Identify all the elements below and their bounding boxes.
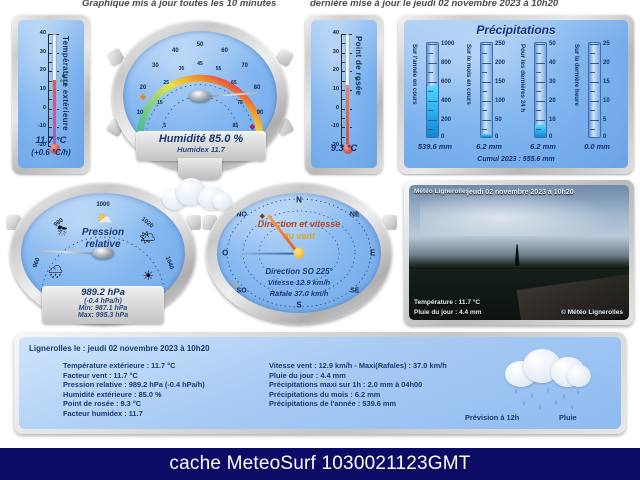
humidity-inner-tick-85: 85 [233, 123, 239, 129]
humidex-value: Humidex 11.7 [136, 145, 266, 154]
precip-gauge-year-tube [426, 42, 439, 138]
header-update-interval: Graphique mis à jour toutes les 10 minut… [82, 0, 276, 9]
pressure-hub [92, 247, 114, 259]
humidity-tick-30: 30 [152, 63, 159, 69]
precipitation-cumul-note: Cumul 2023 : 555.6 mm [404, 156, 628, 163]
outdoor-tick-30: 30 [40, 49, 46, 55]
humidity-inner-tick-15: 15 [157, 100, 163, 106]
outdoor-temperature-glass: 40 30 20 10 0 -10 -20 ▲ °C Tempér [18, 20, 84, 168]
precip-hour-tick-5: 5 [603, 117, 606, 123]
humidity-tick-10: 10 [137, 110, 144, 116]
pressure-tick-1000: 1000 [96, 202, 109, 208]
webcam-rain: Pluie du jour : 4.4 mm [414, 309, 482, 316]
wind-title-1: Direction et vitesse [217, 219, 381, 229]
wind-cardinal-no: NO [236, 211, 247, 218]
wind-gust-text: Rafale 37.0 km/h [217, 289, 381, 298]
outdoor-thermometer: 40 30 20 10 0 -10 -20 ▲ °C Tempér [24, 26, 78, 162]
humidity-inner-tick-55: 55 [216, 66, 222, 72]
precip-24h-tick-30: 30 [549, 79, 556, 85]
summary-left-item-2: Pression relative : 989.2 hPa (-0.4 hPa/… [63, 380, 205, 390]
precip-gauge-month-label: Sur le mois en cours [465, 44, 472, 105]
outdoor-temp-title: Température extérieure [61, 36, 70, 131]
wind-cardinal-o: O [222, 249, 228, 258]
precip-gauge-year-value: 539.6 mm [406, 142, 464, 151]
humidity-inner-tick-65: 65 [231, 80, 237, 86]
humidity-inner-tick-5: 5 [163, 123, 166, 129]
precipitation-glass: Précipitations Sur l'année en cours 1000… [404, 20, 628, 168]
precip-month-tick-0: 0 [495, 134, 498, 140]
webcam-panel[interactable]: Météo Lignerolles jeudi 02 novembre 2023… [404, 180, 634, 325]
humidity-readout-shelf: Humidité 85.0 % Humidex 11.7 [136, 131, 266, 161]
decorative-cloud-icon [162, 176, 232, 212]
wind-hub [294, 248, 305, 259]
precip-hour-tick-25: 25 [603, 41, 610, 47]
pressure-max: Max: 995.3 hPa [42, 312, 164, 319]
precip-gauge-24h-fill [535, 125, 546, 137]
precip-year-tick-200: 200 [441, 117, 451, 123]
summary-inner: Lignerolles le : jeudi 02 novembre 2023 … [19, 337, 621, 429]
humidity-tick-80: 80 [254, 85, 261, 91]
precipitation-panel[interactable]: Précipitations Sur l'année en cours 1000… [398, 14, 634, 174]
outdoor-temperature-panel[interactable]: 40 30 20 10 0 -10 -20 ▲ °C Tempér [12, 14, 90, 174]
precip-gauge-24h-tube [534, 42, 547, 138]
precip-24h-tick-0: 0 [549, 134, 552, 140]
precip-gauge-month-value: 6.2 mm [460, 142, 518, 151]
header-strip: Graphique mis à jour toutes les 10 minut… [0, 0, 640, 10]
webcam-copyright: © Météo Lignerolles [561, 309, 623, 316]
wind-gust-marker-icon: ◆ [260, 212, 265, 220]
summary-panel[interactable]: Lignerolles le : jeudi 02 novembre 2023 … [14, 332, 626, 434]
status-bar-text: cache MeteoSurf 1030021123GMT [169, 453, 470, 475]
precip-month-tick-250: 250 [495, 41, 505, 47]
summary-right-item-0: Vitesse vent : 12.9 km/h - Maxi(Rafales)… [269, 361, 447, 371]
humidity-tick-90: 90 [257, 110, 264, 116]
humidity-inner-tick-45: 45 [197, 61, 203, 67]
dew-point-value: 9.3 °C [317, 143, 371, 154]
webcam-image: Météo Lignerolles jeudi 02 novembre 2023… [409, 185, 629, 320]
precip-year-tick-600: 600 [441, 79, 451, 85]
outdoor-temp-tube [52, 34, 57, 146]
wind-average-needle [243, 253, 299, 255]
wind-cardinal-s: S [296, 300, 301, 309]
summary-left-column: Température extérieure : 11.7 °C Facteur… [63, 361, 205, 419]
pressure-title-1: Pression [21, 227, 185, 238]
outdoor-tick-40: 40 [40, 30, 46, 36]
humidity-tick-60: 60 [221, 48, 228, 54]
precip-hour-tick-15: 15 [603, 79, 610, 85]
outdoor-tick-0: 0 [43, 105, 46, 111]
summary-right-item-3: Précipitations du mois : 6.2 mm [269, 390, 447, 400]
humidity-value: Humidité 85.0 % [136, 133, 266, 145]
precip-gauge-year-label: Sur l'année en cours [411, 44, 418, 105]
humidity-tick-40: 40 [172, 48, 179, 54]
forecast-label: Prévision à 12h [465, 413, 519, 422]
wind-cardinal-n: N [296, 196, 302, 205]
outdoor-tick-20: 20 [40, 67, 46, 73]
summary-left-item-5: Facteur humidex : 11.7 [63, 409, 205, 419]
outdoor-temp-trend: (+0.6 °C/h) [24, 148, 78, 157]
wind-speed-text: Vitesse 12.9 km/h [217, 278, 381, 287]
precip-year-tick-0: 0 [441, 134, 444, 140]
outdoor-tick-10: 10 [40, 86, 46, 92]
precip-year-tick-400: 400 [441, 98, 451, 104]
dew-point-title: Point de rosée [354, 36, 363, 95]
precip-hour-tick-10: 10 [603, 98, 610, 104]
webcam-temperature: Température : 11.7 °C [414, 299, 480, 306]
precip-month-tick-50: 50 [495, 117, 502, 123]
webcam-timestamp: jeudi 02 novembre 2023 à 10h20 [467, 189, 574, 196]
outdoor-temp-scale: 40 30 20 10 0 -10 -20 [48, 34, 49, 146]
precip-gauge-24h-label: Pour les dernières 24 h [519, 44, 526, 112]
dew-point-scale: 40 30 20 10 0 -10 -20 [341, 34, 342, 146]
pressure-trend: (-0.4 hPa/h) [42, 298, 164, 305]
humidity-hub [189, 90, 211, 102]
dew-tick-m10: -10 [331, 123, 339, 129]
precip-gauge-24h-value: 6.2 mm [514, 142, 572, 151]
webcam-church-tower [515, 244, 520, 266]
precipitation-title: Précipitations [404, 23, 628, 37]
rain-icon: 🌧 [47, 265, 64, 278]
summary-right-column: Vitesse vent : 12.9 km/h - Maxi(Rafales)… [269, 361, 447, 409]
summary-left-item-3: Humidité extérieure : 85.0 % [63, 390, 205, 400]
summary-right-item-2: Précipitations maxi sur 1h : 2.0 mm à 04… [269, 380, 447, 390]
header-last-update: dernière mise à jour le jeudi 02 novembr… [310, 0, 558, 9]
precip-month-tick-150: 150 [495, 79, 505, 85]
summary-left-item-4: Point de rosée : 9.3 °C [63, 399, 205, 409]
dew-tick-30: 30 [333, 49, 339, 55]
dew-tick-40: 40 [333, 30, 339, 36]
pressure-readout-shelf: 989.2 hPa (-0.4 hPa/h) Min: 987.1 hPa Ma… [42, 286, 164, 324]
status-bar: cache MeteoSurf 1030021123GMT [0, 448, 640, 480]
forecast-rain-cloud-icon [505, 347, 593, 387]
summary-right-item-4: Précipitations de l'année : 539.6 mm [269, 399, 447, 409]
outdoor-temp-value: 11.7 °C [24, 135, 78, 146]
cloudy-icon: ⛅ [96, 212, 112, 225]
precip-24h-tick-50: 50 [549, 41, 556, 47]
humidity-inner-tick-25: 25 [163, 80, 169, 86]
pressure-value: 989.2 hPa [42, 287, 164, 298]
summary-left-item-1: Facteur vent : 11.7 °C [63, 371, 205, 381]
precip-month-tick-100: 100 [495, 98, 505, 104]
precip-hour-tick-20: 20 [603, 60, 610, 66]
dew-tick-0: 0 [336, 105, 339, 111]
webcam-station-name: Météo Lignerolles [414, 188, 469, 195]
precip-hour-tick-0: 0 [603, 134, 606, 140]
weather-dashboard: Graphique mis à jour toutes les 10 minut… [0, 0, 640, 480]
summary-date: Lignerolles le : jeudi 02 novembre 2023 … [29, 344, 210, 353]
humidity-min-marker-icon: ◆ [140, 92, 146, 101]
summary-left-item-0: Température extérieure : 11.7 °C [63, 361, 205, 371]
outdoor-tick-m10: -10 [38, 123, 46, 129]
summary-right-item-1: Pluie du jour : 4.4 mm [269, 371, 447, 381]
precip-gauge-24h[interactable]: Pour les dernières 24 h 50 40 30 20 10 0… [516, 42, 568, 154]
precip-gauge-hour-value: 0.0 mm [568, 142, 626, 151]
dew-point-tube [345, 34, 350, 146]
wind-cardinal-ne: NE [350, 211, 360, 218]
pressure-min: Min: 987.1 hPa [42, 305, 164, 312]
dew-point-glass: 40 30 20 10 0 -10 -20 ▼ Point de rosée [311, 20, 377, 168]
humidity-max-marker-icon: ◆ [249, 122, 255, 131]
wind-dial-face: N NE E SE S SO O NO Direction et vitesse… [217, 193, 381, 313]
dew-point-panel[interactable]: 40 30 20 10 0 -10 -20 ▼ Point de rosée [305, 14, 383, 174]
precip-24h-tick-40: 40 [549, 60, 556, 66]
humidity-inner-tick-75: 75 [237, 100, 243, 106]
humidity-tick-50: 50 [197, 42, 204, 48]
humidity-tick-70: 70 [241, 63, 248, 69]
precip-24h-tick-10: 10 [549, 117, 556, 123]
precip-gauge-hour[interactable]: Sur la dernière heure 25 20 15 10 5 0 0.… [570, 42, 622, 154]
dew-point-mercury [346, 85, 349, 146]
forecast-value: Pluie [559, 413, 577, 422]
precip-year-tick-800: 800 [441, 60, 451, 66]
humidity-inner-tick-35: 35 [179, 66, 185, 72]
sun-icon: ☀ [142, 269, 154, 282]
dew-tick-10: 10 [333, 86, 339, 92]
precip-gauge-month[interactable]: Sur le mois en cours 250 200 150 100 50 … [462, 42, 514, 154]
precip-24h-tick-20: 20 [549, 98, 556, 104]
wind-direction-text: Direction SO 225° [217, 267, 381, 276]
humidity-tick-20: 20 [140, 85, 147, 91]
dew-point-thermometer: 40 30 20 10 0 -10 -20 ▼ Point de rosée [317, 26, 371, 162]
wind-dial-frame: N NE E SE S SO O NO Direction et vitesse… [206, 182, 392, 324]
precip-month-tick-200: 200 [495, 60, 505, 66]
precip-year-tick-1000: 1000 [441, 41, 454, 47]
webcam-cloud [420, 190, 618, 236]
precip-gauge-year[interactable]: Sur l'année en cours 1000 800 600 400 20… [408, 42, 460, 154]
precip-gauge-hour-tube [588, 42, 601, 138]
precip-gauge-hour-label: Sur la dernière heure [573, 44, 580, 106]
precip-gauge-month-tube [480, 42, 493, 138]
dew-tick-20: 20 [333, 67, 339, 73]
wind-title-2: du vent [217, 231, 381, 241]
wind-cardinal-e: E [370, 249, 375, 258]
